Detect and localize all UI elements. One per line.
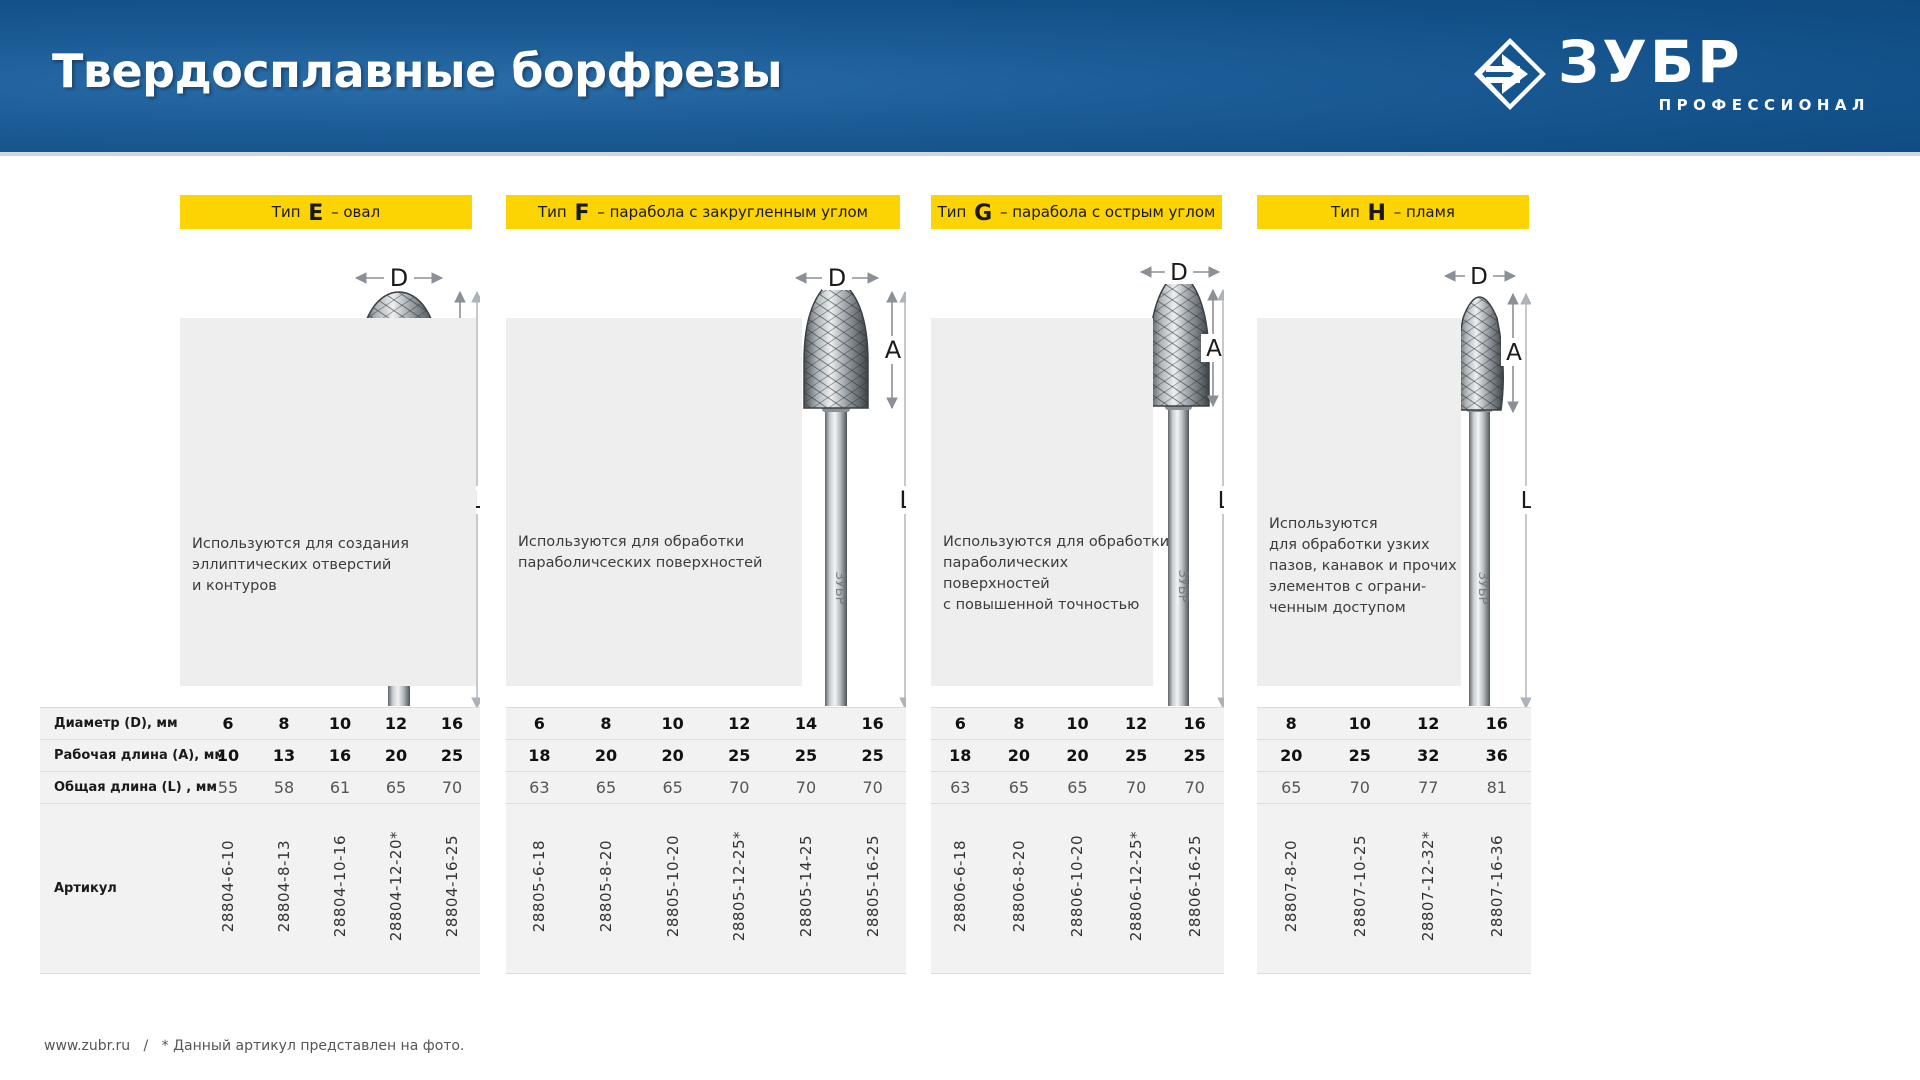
cell-article: 28806-6-18 [931, 804, 990, 974]
type-letter: F [572, 201, 593, 226]
dimension-d: D [1141, 260, 1219, 286]
type-suffix: – парабола с острым углом [1000, 203, 1215, 221]
type-suffix: – овал [331, 203, 380, 221]
dimension-d: D [356, 264, 442, 292]
type-prefix: Тип [938, 203, 967, 221]
cell-working-length: 32 [1394, 740, 1463, 772]
cell-diameter: 10 [639, 708, 706, 740]
cell-working-length: 20 [1048, 740, 1107, 772]
cell-diameter: 8 [573, 708, 640, 740]
cell-total-length: 70 [706, 772, 773, 804]
row-label-working-length: Рабочая длина (A), мм [40, 740, 200, 772]
illustration-f: ЗУБР D A L Используются для обработки [506, 256, 906, 776]
table-row-total-length: 63 65 65 70 70 [931, 772, 1224, 804]
cell-working-length: 20 [990, 740, 1049, 772]
dim-label-l: L [899, 486, 906, 514]
cell-total-length: 77 [1394, 772, 1463, 804]
cell-working-length: 13 [256, 740, 312, 772]
cell-article: 28805-10-20 [639, 804, 706, 974]
table-row-diameter: 6 8 10 12 16 [931, 708, 1224, 740]
cell-working-length: 20 [573, 740, 640, 772]
cell-working-length: 20 [639, 740, 706, 772]
cell-article: 28804-16-25 [424, 804, 480, 974]
cell-diameter: 10 [1326, 708, 1395, 740]
cell-total-length: 70 [1107, 772, 1166, 804]
cell-article: 28804-6-10 [200, 804, 256, 974]
svg-text:ЗУБР: ЗУБР [1475, 571, 1490, 604]
table-row-article: 28805-6-18 28805-8-20 28805-10-20 28805-… [506, 804, 906, 974]
cell-total-length: 65 [1048, 772, 1107, 804]
cell-total-length: 70 [1165, 772, 1224, 804]
dim-label-l: L [1521, 488, 1531, 514]
cell-total-length: 63 [506, 772, 573, 804]
cell-diameter: 10 [312, 708, 368, 740]
cell-article: 28804-12-20* [368, 804, 424, 974]
cell-total-length: 61 [312, 772, 368, 804]
type-letter: E [305, 201, 326, 226]
row-label-article: Артикул [40, 804, 200, 974]
cell-total-length: 58 [256, 772, 312, 804]
type-suffix: – пламя [1394, 203, 1455, 221]
type-prefix: Тип [272, 203, 301, 221]
dimension-d: D [1445, 264, 1515, 290]
cell-working-length: 25 [1326, 740, 1395, 772]
cell-diameter: 16 [839, 708, 906, 740]
cell-total-length: 65 [990, 772, 1049, 804]
table-row-total-length: 63 65 65 70 70 70 [506, 772, 906, 804]
type-letter: H [1365, 201, 1389, 226]
cell-working-length: 25 [773, 740, 840, 772]
application-photo-backdrop [506, 318, 802, 686]
zubr-diamond-arrow-icon [1472, 36, 1548, 112]
page-footer: www.zubr.ru / * Данный артикул представл… [44, 1038, 464, 1054]
usage-description-g: Используются для обработки параболически… [943, 532, 1179, 616]
cell-diameter: 16 [424, 708, 480, 740]
illustration-g: ЗУБР D A L Используются для обработки [931, 256, 1224, 776]
logo-wordmark: ЗУБР [1558, 28, 1743, 96]
cell-working-length: 25 [424, 740, 480, 772]
dim-label-l: L [1218, 488, 1224, 514]
cell-working-length: 25 [706, 740, 773, 772]
dim-label-d: D [828, 264, 846, 292]
burr-parabola-round: ЗУБР [802, 276, 872, 706]
cell-diameter: 12 [706, 708, 773, 740]
dim-label-a: A [1506, 340, 1522, 366]
logo-tagline: ПРОФЕССИОНАЛ [1659, 96, 1870, 114]
cell-article: 28804-10-16 [312, 804, 368, 974]
table-row-diameter: 6 8 10 12 14 16 [506, 708, 906, 740]
cell-article: 28805-8-20 [573, 804, 640, 974]
table-row-working-length: Рабочая длина (A), мм 10 13 16 20 25 [40, 740, 480, 772]
illustration-e: ЗУБР D A L Испол [40, 256, 480, 776]
cell-working-length: 25 [1107, 740, 1166, 772]
cell-article: 28807-16-36 [1463, 804, 1532, 974]
footer-separator: / [144, 1038, 149, 1054]
type-bar-h: Тип H – пламя [1257, 195, 1529, 229]
cell-working-length: 25 [839, 740, 906, 772]
cell-article: 28805-12-25* [706, 804, 773, 974]
product-column-g: Тип G – парабола с острым углом [931, 156, 1224, 1036]
cell-article: 28807-10-25 [1326, 804, 1395, 974]
table-row-total-length: 65 70 77 81 [1257, 772, 1531, 804]
cell-article: 28806-16-25 [1165, 804, 1224, 974]
cell-article: 28805-16-25 [839, 804, 906, 974]
usage-description-e: Используются для создания эллиптических … [192, 534, 462, 597]
type-bar-f: Тип F – парабола с закругленным углом [506, 195, 900, 229]
cell-diameter: 12 [1394, 708, 1463, 740]
table-row-working-length: 18 20 20 25 25 [931, 740, 1224, 772]
cell-article: 28805-6-18 [506, 804, 573, 974]
table-row-article: Артикул 28804-6-10 28804-8-13 28804-10-1… [40, 804, 480, 974]
cell-working-length: 20 [1257, 740, 1326, 772]
table-row-working-length: 20 25 32 36 [1257, 740, 1531, 772]
spec-table-e: Диаметр (D), мм 6 8 10 12 16 Рабочая дли… [40, 707, 480, 974]
cell-article: 28807-12-32* [1394, 804, 1463, 974]
cell-total-length: 81 [1463, 772, 1532, 804]
row-label-diameter: Диаметр (D), мм [40, 708, 200, 740]
cell-total-length: 65 [639, 772, 706, 804]
cell-total-length: 70 [773, 772, 840, 804]
application-photo-backdrop [1257, 318, 1461, 686]
cell-working-length: 36 [1463, 740, 1532, 772]
cell-article: 28804-8-13 [256, 804, 312, 974]
cell-diameter: 8 [256, 708, 312, 740]
cell-diameter: 6 [931, 708, 990, 740]
dim-label-a: A [885, 336, 902, 364]
cell-total-length: 65 [368, 772, 424, 804]
table-row-working-length: 18 20 20 25 25 25 [506, 740, 906, 772]
cell-working-length: 20 [368, 740, 424, 772]
spec-table-h: 8 10 12 16 20 25 32 36 65 70 77 81 28807… [1257, 707, 1531, 974]
type-bar-g: Тип G – парабола с острым углом [931, 195, 1222, 229]
footer-website[interactable]: www.zubr.ru [44, 1038, 130, 1054]
table-row-diameter: Диаметр (D), мм 6 8 10 12 16 [40, 708, 480, 740]
cell-total-length: 70 [424, 772, 480, 804]
cell-diameter: 6 [200, 708, 256, 740]
dimension-d: D [796, 264, 878, 292]
cell-diameter: 6 [506, 708, 573, 740]
application-photo-backdrop [931, 318, 1153, 686]
cell-working-length: 25 [1165, 740, 1224, 772]
cell-diameter: 16 [1463, 708, 1532, 740]
cell-total-length: 70 [1326, 772, 1395, 804]
table-row-article: 28807-8-20 28807-10-25 28807-12-32* 2880… [1257, 804, 1531, 974]
dimension-a: A [1501, 294, 1527, 412]
burr-parabola-sharp: ЗУБР [1147, 268, 1213, 706]
cell-article: 28806-8-20 [990, 804, 1049, 974]
cell-total-length: 63 [931, 772, 990, 804]
cell-article: 28805-14-25 [773, 804, 840, 974]
table-row-article: 28806-6-18 28806-8-20 28806-10-20 28806-… [931, 804, 1224, 974]
footer-note: * Данный артикул представлен на фото. [162, 1038, 465, 1054]
usage-description-f: Используются для обработки параболичсеск… [518, 532, 808, 574]
type-prefix: Тип [1331, 203, 1360, 221]
product-column-e: Тип E – овал [40, 156, 480, 1036]
spec-table-f: 6 8 10 12 14 16 18 20 20 25 25 25 63 65 … [506, 707, 906, 974]
brand-logo: ЗУБР ПРОФЕССИОНАЛ [1472, 30, 1872, 122]
illustration-h: ЗУБР D A L Используются для обработки [1257, 256, 1531, 776]
cell-working-length: 16 [312, 740, 368, 772]
type-suffix: – парабола с закругленным углом [597, 203, 868, 221]
dimension-a: A [880, 292, 906, 408]
svg-text:ЗУБР: ЗУБР [832, 571, 847, 604]
cell-article: 28807-8-20 [1257, 804, 1326, 974]
product-column-h: Тип H – пламя [1257, 156, 1531, 1036]
dim-label-d: D [390, 264, 408, 292]
cell-total-length: 65 [573, 772, 640, 804]
cell-diameter: 8 [990, 708, 1049, 740]
type-prefix: Тип [538, 203, 567, 221]
cell-article: 28806-12-25* [1107, 804, 1166, 974]
row-label-total-length: Общая длина (L) , мм [40, 772, 200, 804]
cell-total-length: 70 [839, 772, 906, 804]
table-row-total-length: Общая длина (L) , мм 55 58 61 65 70 [40, 772, 480, 804]
dim-label-d: D [1470, 264, 1488, 290]
type-bar-e: Тип E – овал [180, 195, 472, 229]
spec-table-g: 6 8 10 12 16 18 20 20 25 25 63 65 65 70 … [931, 707, 1224, 974]
cell-article: 28806-10-20 [1048, 804, 1107, 974]
application-photo-backdrop [180, 318, 476, 686]
cell-working-length: 18 [931, 740, 990, 772]
dim-label-d: D [1170, 260, 1188, 286]
cell-diameter: 12 [1107, 708, 1166, 740]
cell-diameter: 12 [368, 708, 424, 740]
page-header: Твердосплавные борфрезы ЗУБР ПРОФЕССИОНА… [0, 0, 1920, 152]
cell-diameter: 14 [773, 708, 840, 740]
product-column-f: Тип F – парабола с закругленным углом [506, 156, 906, 1036]
cell-diameter: 16 [1165, 708, 1224, 740]
type-letter: G [971, 201, 995, 226]
page-title: Твердосплавные борфрезы [52, 44, 782, 98]
dim-label-a: A [1206, 336, 1222, 362]
cell-diameter: 10 [1048, 708, 1107, 740]
table-row-diameter: 8 10 12 16 [1257, 708, 1531, 740]
cell-total-length: 65 [1257, 772, 1326, 804]
cell-working-length: 18 [506, 740, 573, 772]
usage-description-h: Используются для обработки узких пазов, … [1269, 514, 1465, 619]
cell-diameter: 8 [1257, 708, 1326, 740]
